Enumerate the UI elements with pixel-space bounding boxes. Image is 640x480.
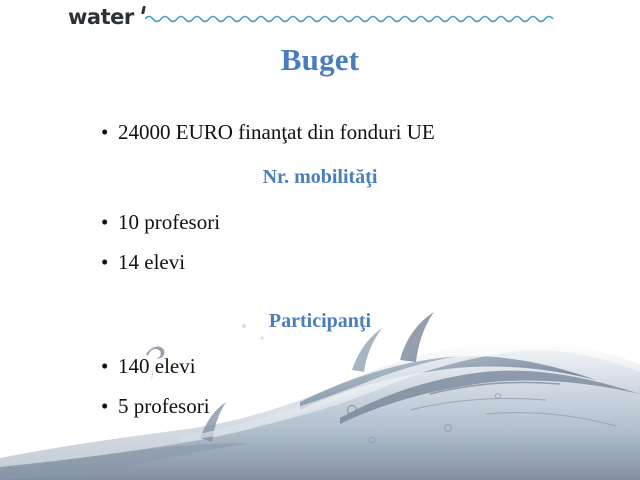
section-heading-participanti: Participanţi <box>0 302 640 340</box>
bullet-point-icon: • <box>101 112 108 152</box>
section-heading-mobilitati: Nr. mobilităţi <box>0 158 640 196</box>
list-item: • 5 profesori <box>0 386 640 426</box>
list-item-label: 10 profesori <box>118 202 220 242</box>
list-item-label: 14 elevi <box>118 242 185 282</box>
wavy-line-icon <box>145 12 557 26</box>
list-item-label: 5 profesori <box>118 386 210 426</box>
slide-content-body: • 24000 EURO finanţat din fonduri UE Nr.… <box>0 112 640 426</box>
list-item-label: 140 elevi <box>118 346 196 386</box>
bullet-point-icon: • <box>101 242 108 282</box>
bullet-point-icon: • <box>101 346 108 386</box>
presentation-slide: water Buget • 24000 EURO finanţat din fo… <box>0 0 640 480</box>
list-item: • 140 elevi <box>0 346 640 386</box>
brand-logo-row: water <box>0 0 640 38</box>
list-item-label: 24000 EURO finanţat din fonduri UE <box>118 112 435 152</box>
list-item: • 24000 EURO finanţat din fonduri UE <box>0 112 640 152</box>
bullet-point-icon: • <box>101 386 108 426</box>
list-item: • 14 elevi <box>0 242 640 282</box>
list-item: • 10 profesori <box>0 202 640 242</box>
bullet-point-icon: • <box>101 202 108 242</box>
brand-logo-text: water <box>68 4 134 30</box>
page-title: Buget <box>0 42 640 78</box>
